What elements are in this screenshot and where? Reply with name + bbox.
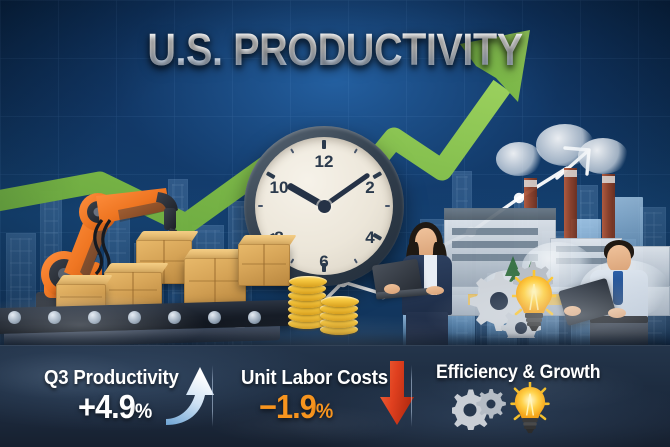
stat-number: −1.9 <box>259 388 316 425</box>
stat-unit: % <box>135 400 151 423</box>
page-title: U.S. PRODUCTIVITY <box>40 24 630 76</box>
arrow-up-curved-icon <box>164 363 218 425</box>
stat-unit-labor-costs[interactable]: Unit Labor Costs −1.9% <box>241 345 411 447</box>
stat-unit: % <box>316 400 332 423</box>
stat-label: Unit Labor Costs <box>241 367 399 390</box>
clock-numeral-4: 4 <box>359 227 381 249</box>
clock-numeral-12: 12 <box>313 151 335 173</box>
cardboard-box <box>238 244 290 286</box>
banner-gears-icon <box>452 388 514 430</box>
stat-number: +4.9 <box>78 388 135 425</box>
gold-coin-stacks <box>288 278 366 338</box>
arrow-down-icon <box>379 361 415 427</box>
banner-lightbulb-icon <box>510 382 550 434</box>
stats-banner: Q3 Productivity +4.9% Unit Labor Costs −… <box>0 345 670 447</box>
productivity-infographic-poster: U.S. PRODUCTIVITY <box>0 0 670 447</box>
lightbulb-icon <box>512 270 556 332</box>
stat-divider <box>411 365 412 427</box>
clock-numeral-6: 6 <box>313 251 335 273</box>
stat-efficiency-growth[interactable]: Efficiency & Growth <box>436 345 636 447</box>
gears-and-lightbulb-icon <box>436 386 604 430</box>
stat-q3-productivity[interactable]: Q3 Productivity +4.9% <box>44 345 212 447</box>
stat-label: Efficiency & Growth <box>436 362 622 384</box>
stat-divider <box>212 365 213 427</box>
businesswoman-with-laptop <box>388 222 464 348</box>
cardboard-box <box>184 258 246 306</box>
clock-center-hub <box>318 200 331 213</box>
